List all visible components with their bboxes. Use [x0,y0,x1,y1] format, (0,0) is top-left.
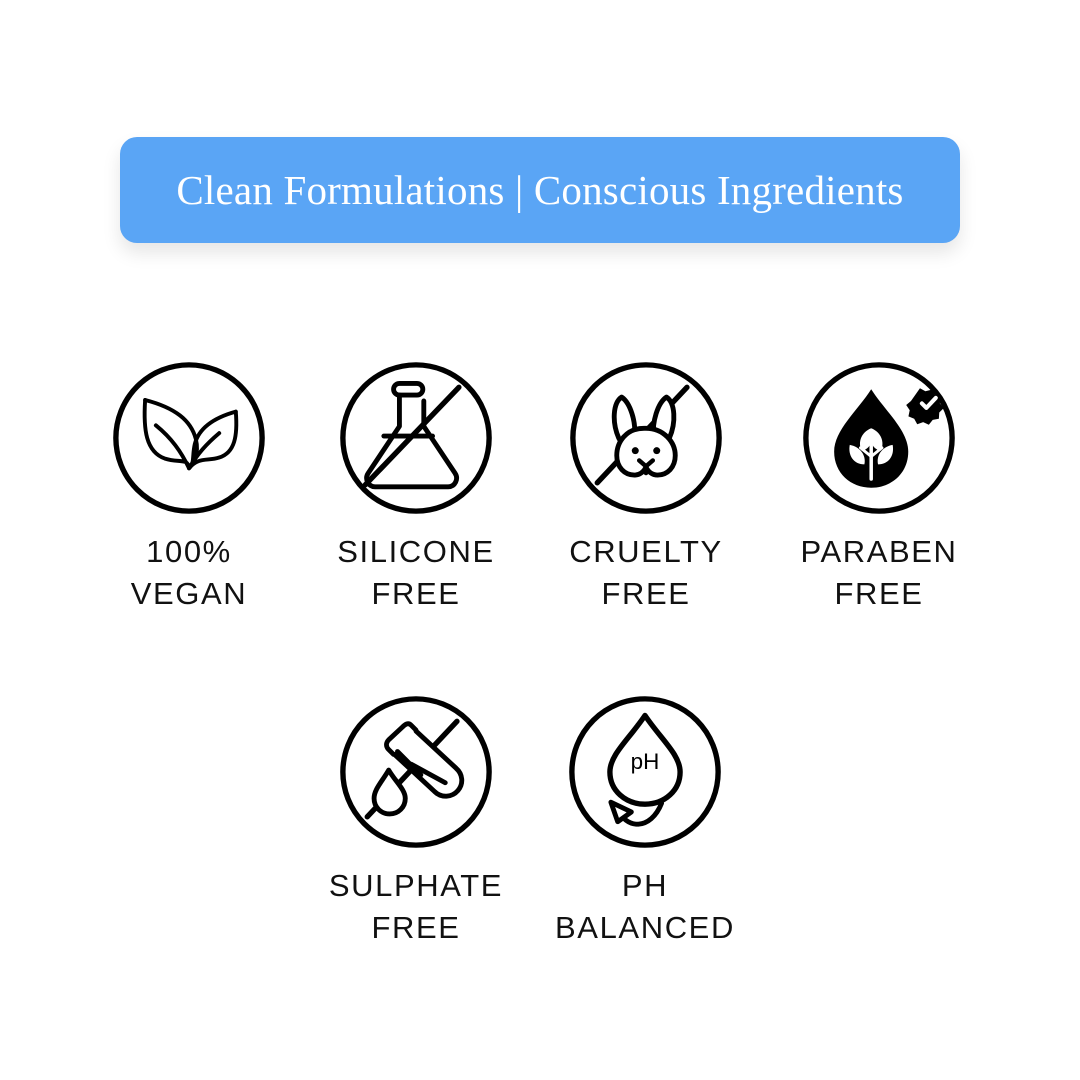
droplet-leaf-check-icon [801,360,957,516]
badge-label-paraben: PARABEN FREE [763,531,995,615]
badge-label-sulphate: SULPHATE FREE [300,865,532,949]
badge-icon-ph: pH [529,693,761,851]
badge-sulphate-free: SULPHATE FREE [300,693,532,949]
leaves-icon [111,360,267,516]
promo-graphic: Clean Formulations | Conscious Ingredien… [0,0,1080,1080]
badge-ph-balanced: pH PH BALANCED [529,693,761,949]
no-rabbit-icon [568,360,724,516]
badge-grid: 100% VEGAN SILICONE FREE [0,0,1080,1080]
badge-icon-paraben [763,359,995,517]
badge-silicone-free: SILICONE FREE [300,359,532,615]
badge-cruelty-free: CRUELTY FREE [530,359,762,615]
badge-icon-sulphate [300,693,532,851]
badge-icon-cruelty [530,359,762,517]
ph-inner-text: pH [631,749,660,774]
badge-icon-silicone [300,359,532,517]
badge-icon-vegan [73,359,305,517]
no-flask-icon [338,360,494,516]
badge-label-ph: PH BALANCED [529,865,761,949]
ph-droplet-icon: pH [567,694,723,850]
badge-vegan: 100% VEGAN [73,359,305,615]
badge-label-cruelty: CRUELTY FREE [530,531,762,615]
badge-label-vegan: 100% VEGAN [73,531,305,615]
badge-label-silicone: SILICONE FREE [300,531,532,615]
badge-paraben-free: PARABEN FREE [763,359,995,615]
no-test-tube-icon [338,694,494,850]
